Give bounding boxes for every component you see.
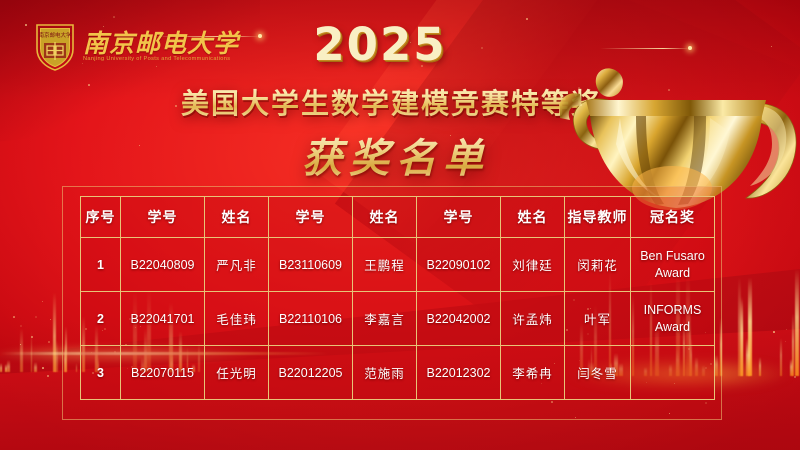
cell-award [631,346,715,400]
page-heading-winner-list: 获奖名单 [0,126,800,184]
cell-sid-1: B22040809 [121,238,205,292]
table-header-cell-award: 冠名奖 [631,197,715,238]
table-row: 1 B22040809 严凡非 B23110609 王鹏程 B22090102 … [81,238,715,292]
cell-name-1: 毛佳玮 [205,292,269,346]
cell-teacher: 叶军 [565,292,631,346]
cell-name-3: 刘律廷 [501,238,565,292]
cell-name-2: 李嘉言 [353,292,417,346]
cell-sid-2: B23110609 [269,238,353,292]
cell-sid-3: B22042002 [417,292,501,346]
table-header-cell-teacher: 指导教师 [565,197,631,238]
cell-index: 3 [81,346,121,400]
cell-name-3: 李希冉 [501,346,565,400]
page-title-year: 2025 [0,18,800,71]
cell-sid-3: B22090102 [417,238,501,292]
cell-teacher: 闫冬雪 [565,346,631,400]
table-header-cell-name-1: 姓名 [205,197,269,238]
table-header-cell-index: 序号 [81,197,121,238]
cell-award: INFORMS Award [631,292,715,346]
award-poster: 南京邮电大学 南京邮电大学 Nanjing University of Post… [0,0,800,450]
cell-index: 1 [81,238,121,292]
cell-name-2: 王鹏程 [353,238,417,292]
cell-sid-1: B22070115 [121,346,205,400]
cell-sid-3: B22012302 [417,346,501,400]
cell-name-1: 严凡非 [205,238,269,292]
page-subtitle: 美国大学生数学建模竞赛特等奖 [0,82,800,122]
cell-name-1: 任光明 [205,346,269,400]
table-header-cell-name-2: 姓名 [353,197,417,238]
light-streak-icon [640,122,710,123]
table-header-row: 序号 学号 姓名 学号 姓名 学号 姓名 指导教师 冠名奖 [81,197,715,238]
award-list-table: 序号 学号 姓名 学号 姓名 学号 姓名 指导教师 冠名奖 1 B2204080… [80,196,715,400]
table-header-cell-sid-1: 学号 [121,197,205,238]
table-header-cell-name-3: 姓名 [501,197,565,238]
cell-sid-2: B22110106 [269,292,353,346]
cell-sid-2: B22012205 [269,346,353,400]
table-row: 3 B22070115 任光明 B22012205 范施雨 B22012302 … [81,346,715,400]
cell-name-3: 许孟炜 [501,292,565,346]
cell-index: 2 [81,292,121,346]
table-header-cell-sid-3: 学号 [417,197,501,238]
cell-teacher: 闵莉花 [565,238,631,292]
table-row: 2 B22041701 毛佳玮 B22110106 李嘉言 B22042002 … [81,292,715,346]
table-header-cell-sid-2: 学号 [269,197,353,238]
cell-name-2: 范施雨 [353,346,417,400]
cell-sid-1: B22041701 [121,292,205,346]
cell-award: Ben Fusaro Award [631,238,715,292]
